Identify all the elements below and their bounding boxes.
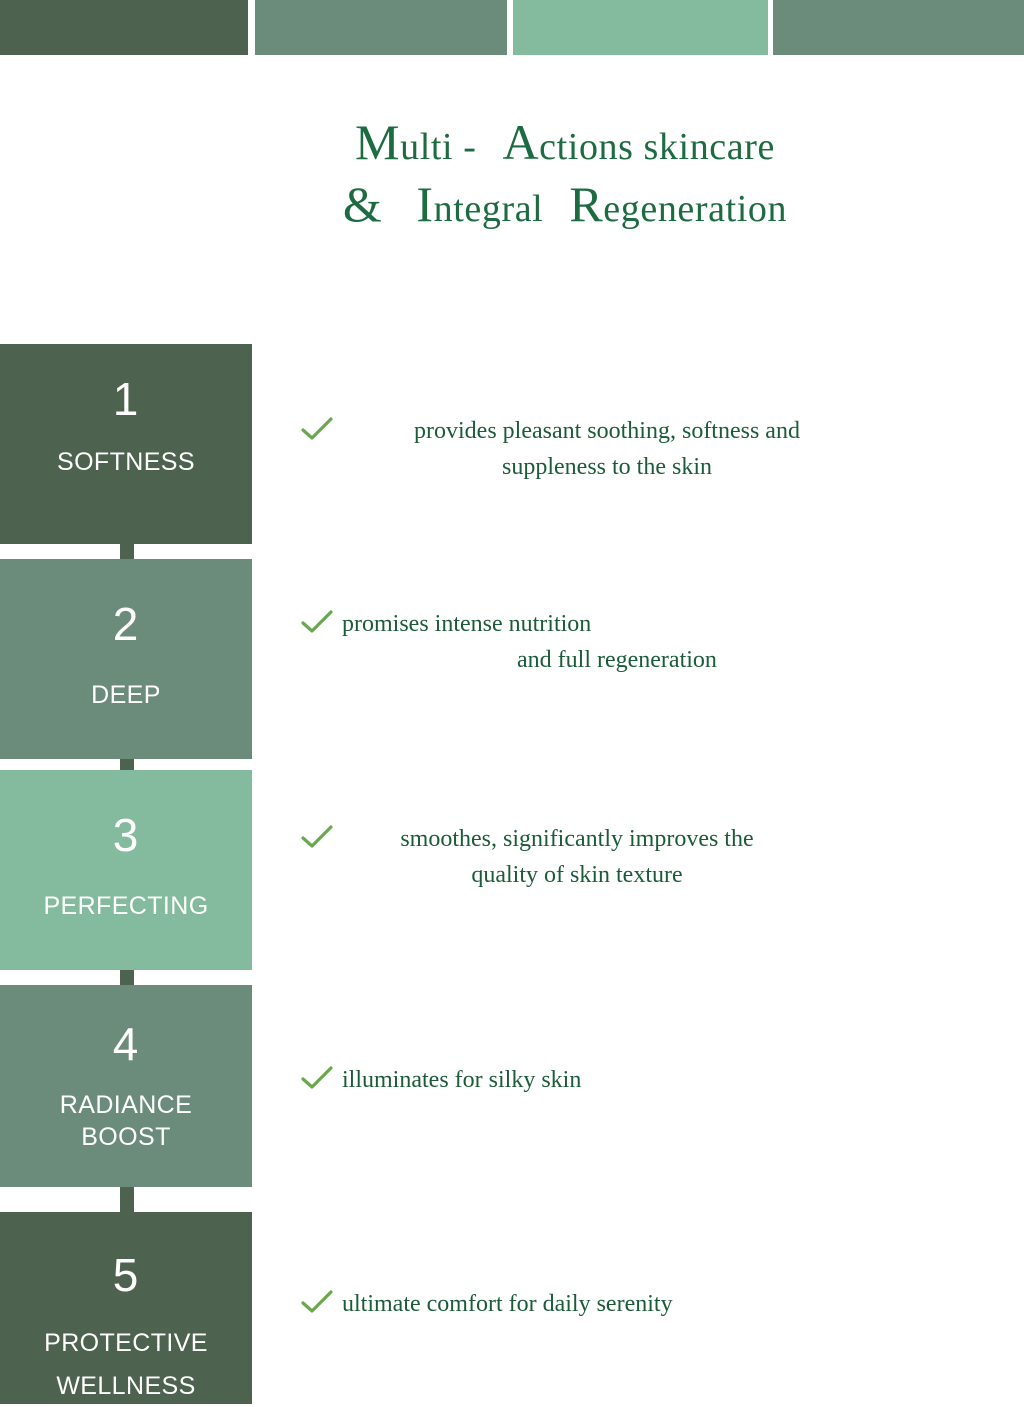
title-word-ntegral: ntegral <box>434 188 544 230</box>
top-color-strip <box>0 0 1024 55</box>
step-block-2[interactable]: 2 DEEP <box>0 559 252 759</box>
step-label-4: RADIANCE BOOST <box>0 1089 252 1153</box>
benefit-text-2-line1: promises intense nutrition <box>342 611 591 637</box>
benefit-item-2: promises intense nutritionand full regen… <box>300 606 920 679</box>
benefit-item-5: ultimate comfort for daily serenity <box>300 1286 920 1322</box>
step-label-3: PERFECTING <box>0 890 252 922</box>
step-number-2: 2 <box>0 601 252 647</box>
title-ampersand: & <box>343 176 383 232</box>
title-cap-a: A <box>502 114 539 170</box>
title-word-egeneration: egeneration <box>603 188 787 230</box>
title-line-2: &IntegralRegeneration <box>150 190 980 228</box>
benefit-item-1: provides pleasant soothing, softness and… <box>300 413 920 486</box>
step-connector-3 <box>120 970 134 986</box>
step-block-1[interactable]: 1 SOFTNESS <box>0 344 252 544</box>
check-icon <box>300 416 334 444</box>
color-swatch-dark-green <box>0 0 248 55</box>
benefit-text-2-line2: and full regeneration <box>342 642 717 678</box>
step-block-3[interactable]: 3 PERFECTING <box>0 770 252 970</box>
step-block-4[interactable]: 4 RADIANCE BOOST <box>0 985 252 1187</box>
step-label-5: PROTECTIVE WELLNESS <box>0 1322 252 1407</box>
check-icon <box>300 824 334 852</box>
step-connector-1 <box>120 544 134 560</box>
benefit-text-4: illuminates for silky skin <box>342 1062 581 1098</box>
benefit-text-1: provides pleasant soothing, softness and… <box>342 413 872 486</box>
title-word-skincare: skincare <box>644 126 775 168</box>
title-word-ulti: ulti <box>400 126 453 168</box>
benefit-item-4: illuminates for silky skin <box>300 1062 920 1098</box>
step-block-5[interactable]: 5 PROTECTIVE WELLNESS <box>0 1212 252 1404</box>
step-number-1: 1 <box>0 376 252 422</box>
step-number-5: 5 <box>0 1252 252 1298</box>
benefit-text-2: promises intense nutritionand full regen… <box>342 606 872 679</box>
title-line-1: Multi-Actionsskincare <box>150 128 980 166</box>
color-swatch-light-green <box>513 0 768 55</box>
title-cap-m: M <box>355 114 400 170</box>
step-number-3: 3 <box>0 812 252 858</box>
benefit-text-5: ultimate comfort for daily serenity <box>342 1286 673 1322</box>
title-cap-i: I <box>416 176 433 232</box>
check-icon <box>300 1289 334 1317</box>
step-number-4: 4 <box>0 1021 252 1067</box>
step-connector-4 <box>120 1187 134 1213</box>
title-dash: - <box>463 126 476 168</box>
benefit-text-3: smoothes, significantly improves the qua… <box>342 821 812 894</box>
page-title: Multi-Actionsskincare &IntegralRegenerat… <box>150 128 980 228</box>
check-icon <box>300 1065 334 1093</box>
title-word-ctions: ctions <box>539 126 633 168</box>
color-swatch-medium-green <box>255 0 507 55</box>
check-icon <box>300 609 334 637</box>
step-label-1: SOFTNESS <box>0 446 252 478</box>
title-cap-r: R <box>569 176 603 232</box>
step-label-2: DEEP <box>0 679 252 711</box>
benefit-item-3: smoothes, significantly improves the qua… <box>300 821 920 894</box>
color-swatch-medium-green-2 <box>773 0 1024 55</box>
